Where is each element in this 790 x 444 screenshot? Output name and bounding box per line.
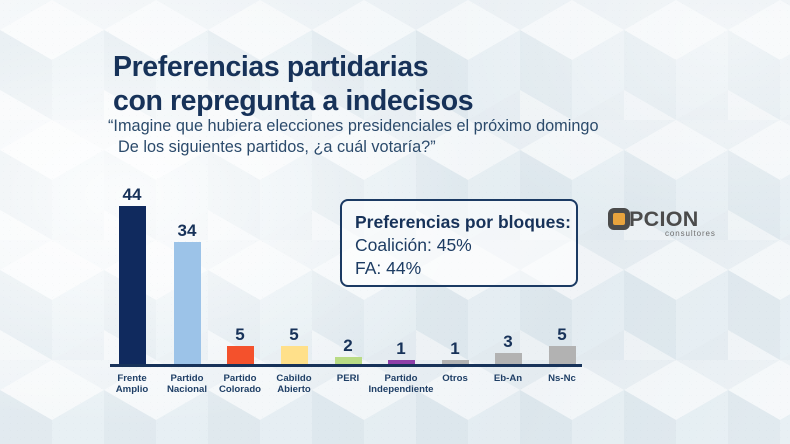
logo-wordmark: PCION xyxy=(629,207,699,231)
category-label-9: Ns-Nc xyxy=(525,373,599,384)
logo-o-square-icon xyxy=(608,208,630,230)
bar-9 xyxy=(549,346,576,364)
infographic-slide: Preferencias partidarias con repregunta … xyxy=(0,0,790,444)
bar-7 xyxy=(442,360,469,364)
bar-1 xyxy=(119,206,146,364)
bar-value-label-2: 34 xyxy=(157,221,217,241)
bar-value-label-8: 3 xyxy=(478,332,538,352)
bar-value-label-6: 1 xyxy=(371,339,431,359)
callout-coalicion-row: Coalición: 45% xyxy=(355,234,576,257)
bar-value-label-9: 5 xyxy=(532,325,592,345)
bar-8 xyxy=(495,353,522,364)
bar-value-label-3: 5 xyxy=(210,325,270,345)
bar-value-label-5: 2 xyxy=(318,336,378,356)
bar-value-label-7: 1 xyxy=(425,339,485,359)
bar-4 xyxy=(281,346,308,364)
callout-title: Preferencias por bloques: xyxy=(355,210,576,234)
bar-6 xyxy=(388,360,415,364)
bar-5 xyxy=(335,357,362,364)
logo-tagline: consultores xyxy=(665,229,716,239)
logo-o-inner-square xyxy=(613,213,625,225)
x-axis-line xyxy=(110,364,582,367)
bar-value-label-1: 44 xyxy=(102,185,162,205)
opcion-consultores-logo: PCION consultores xyxy=(608,207,728,241)
callout-fa-row: FA: 44% xyxy=(355,257,576,280)
bar-2 xyxy=(174,242,201,364)
bar-value-label-4: 5 xyxy=(264,325,324,345)
blocks-summary-callout: Preferencias por bloques: Coalición: 45%… xyxy=(340,199,578,287)
bar-3 xyxy=(227,346,254,364)
